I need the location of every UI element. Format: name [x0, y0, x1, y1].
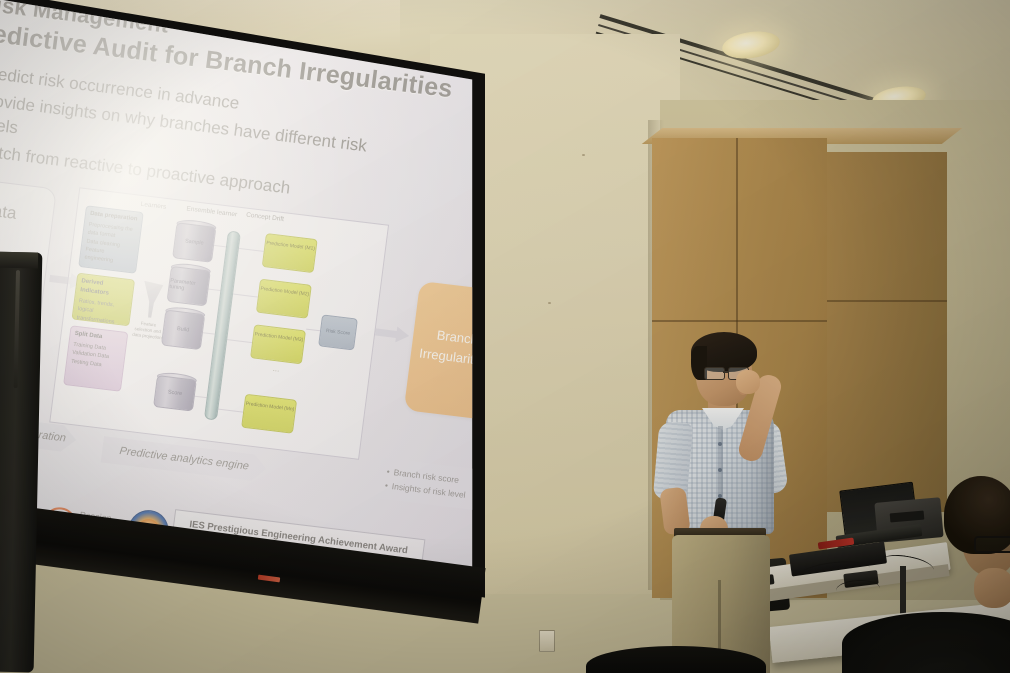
branch-irregularities-box: Branch Irregularities — [404, 281, 484, 421]
audience-member-front-right — [938, 476, 1010, 616]
wood-panel-seam-horizontal-1 — [652, 320, 827, 322]
eyeglass-bridge — [723, 371, 729, 373]
presenter — [648, 330, 838, 673]
audience-hand — [974, 568, 1010, 608]
left-display-panel-top — [0, 251, 38, 268]
model-ellipsis: ... — [273, 367, 280, 372]
presentation-photo-scene: Risk Management Predictive Audit for Bra… — [0, 0, 1010, 673]
projection-screen: Risk Management Predictive Audit for Bra… — [0, 0, 500, 630]
connector-line — [306, 329, 320, 332]
connector-line — [212, 245, 226, 248]
input-line: Data — [0, 192, 54, 230]
funnel-icon — [138, 281, 164, 319]
learner-cylinder: Build — [161, 310, 205, 351]
wood-panel-seam-horizontal-2 — [827, 300, 947, 302]
connector-line — [193, 395, 207, 398]
connector-line — [225, 339, 252, 343]
learner-cylinder: Sample — [172, 222, 216, 263]
learner-cylinder: Score — [153, 375, 197, 412]
learner-cylinder: Parameter tuning — [167, 266, 211, 307]
arrow-right-icon — [374, 324, 410, 344]
wall-outlet-plate[interactable] — [539, 630, 555, 652]
eyeglass-lens-left — [704, 367, 725, 380]
derived-indicators-box: Derived Indicators Ratios, trends, logic… — [72, 273, 136, 327]
audience-eyeglasses — [974, 536, 1010, 553]
connector-line — [216, 408, 243, 412]
connector-line — [237, 248, 264, 252]
tag-outputs: Branch risk score Insights of risk level — [376, 458, 484, 513]
diagram-column-label: Learners — [140, 201, 166, 211]
connector-line — [231, 293, 258, 297]
prediction-model-box: Prediction Model (Mn) — [241, 394, 297, 434]
diagram-column-label: Ensemble learner — [186, 205, 237, 218]
presenter-right-hand — [736, 370, 760, 394]
diagram-column-label: Concept Drift — [246, 212, 285, 224]
box-item: Ratios, trends, logical transformations — [76, 297, 127, 326]
wood-panel-right — [827, 152, 947, 512]
shirt-button — [718, 442, 722, 446]
shirt-button — [718, 468, 722, 472]
prediction-model-box: Prediction Model (M1) — [262, 233, 318, 273]
connector-line — [201, 332, 215, 335]
funnel-label: Feature selection and data projection — [132, 320, 164, 341]
prediction-model-box: Prediction Model (M2) — [256, 279, 312, 319]
data-preparation-box: Data preparation Preprocessing the data … — [78, 205, 143, 273]
prediction-model-box: Prediction Model (M3) — [250, 324, 306, 364]
pipeline-diagram: Learners Ensemble learner Concept Drift … — [49, 187, 389, 460]
risk-score-box: Risk Score — [318, 314, 358, 350]
split-data-box: Split Data Training Data Validation Data… — [63, 325, 128, 391]
